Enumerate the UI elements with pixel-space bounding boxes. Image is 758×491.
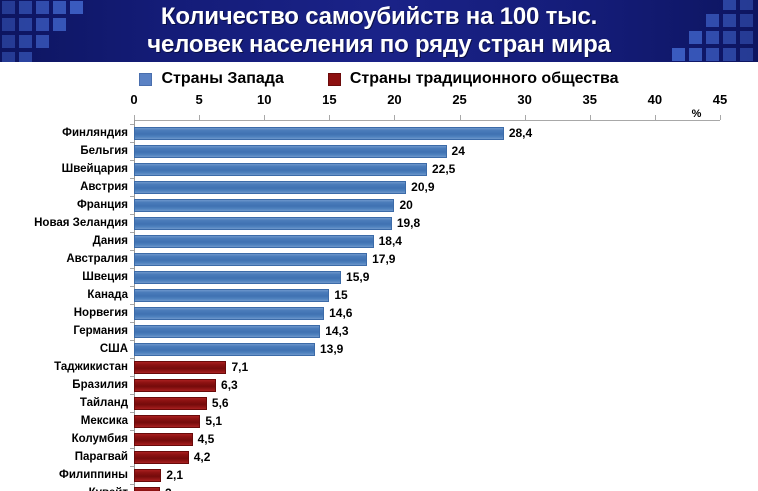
bar-traditional[interactable] <box>134 415 200 428</box>
bar-value-label: 2 <box>165 484 172 491</box>
header-square <box>36 35 49 48</box>
bar-value-label: 17,9 <box>372 250 395 268</box>
bar-chart: 051015202530354045% Финляндия28,4Бельгия… <box>0 92 758 491</box>
bar-value-label: 19,8 <box>397 214 420 232</box>
chart-row[interactable]: Бельгия24 <box>0 142 758 160</box>
bar-west[interactable] <box>134 163 427 176</box>
chart-row[interactable]: США13,9 <box>0 340 758 358</box>
header-square <box>19 18 32 31</box>
category-label: Филиппины <box>0 466 134 484</box>
bar-value-label: 4,5 <box>198 430 215 448</box>
header-square <box>740 14 753 27</box>
header-square <box>723 48 736 61</box>
bar-west[interactable] <box>134 217 392 230</box>
chart-row[interactable]: Дания18,4 <box>0 232 758 250</box>
chart-row[interactable]: Канада15 <box>0 286 758 304</box>
bar-west[interactable] <box>134 199 394 212</box>
bar-traditional[interactable] <box>134 379 216 392</box>
bar-west[interactable] <box>134 253 367 266</box>
header-square <box>36 1 49 14</box>
category-label: Таджикистан <box>0 358 134 376</box>
x-axis-tick-40: 40 <box>648 92 662 107</box>
bar-value-label: 20 <box>399 196 412 214</box>
bar-value-label: 15 <box>334 286 347 304</box>
bar-west[interactable] <box>134 307 324 320</box>
x-axis-tick-mark <box>264 115 265 120</box>
bar-value-label: 22,5 <box>432 160 455 178</box>
bar-value-label: 6,3 <box>221 376 238 394</box>
header-square <box>19 1 32 14</box>
x-axis-tick-35: 35 <box>583 92 597 107</box>
legend-label-west: Страны Запада <box>161 70 283 88</box>
header-square <box>706 14 719 27</box>
legend-swatch-traditional-icon <box>328 73 341 86</box>
page-title: Количество самоубийств на 100 тыс. челов… <box>60 0 698 62</box>
category-label: Дания <box>0 232 134 250</box>
legend-item-traditional[interactable]: Страны традиционного общества <box>328 70 619 88</box>
category-label: Бразилия <box>0 376 134 394</box>
bar-traditional[interactable] <box>134 469 161 482</box>
x-axis-tick-0: 0 <box>130 92 137 107</box>
bar-traditional[interactable] <box>134 487 160 491</box>
header-square <box>36 18 49 31</box>
category-label: Швеция <box>0 268 134 286</box>
category-label: Норвегия <box>0 304 134 322</box>
bar-traditional[interactable] <box>134 433 193 446</box>
chart-row[interactable]: Австралия17,9 <box>0 250 758 268</box>
header-square <box>723 0 736 10</box>
x-axis-tick-labels: 051015202530354045% <box>0 92 758 114</box>
header-square <box>2 35 15 48</box>
header-square <box>740 48 753 61</box>
x-axis-tick-5: 5 <box>195 92 202 107</box>
x-axis-tick-mark <box>460 115 461 120</box>
legend-item-west[interactable]: Страны Запада <box>139 70 283 88</box>
bar-value-label: 2,1 <box>166 466 183 484</box>
bar-west[interactable] <box>134 127 504 140</box>
x-axis-tick-mark <box>525 115 526 120</box>
chart-row[interactable]: Норвегия14,6 <box>0 304 758 322</box>
bar-west[interactable] <box>134 181 406 194</box>
bar-value-label: 14,6 <box>329 304 352 322</box>
header-square <box>723 14 736 27</box>
header-square <box>19 52 32 62</box>
category-label: Мексика <box>0 412 134 430</box>
bar-value-label: 24 <box>452 142 465 160</box>
chart-row[interactable]: Франция20 <box>0 196 758 214</box>
category-label: Бельгия <box>0 142 134 160</box>
bar-value-label: 13,9 <box>320 340 343 358</box>
legend-label-traditional: Страны традиционного общества <box>350 70 619 88</box>
bar-west[interactable] <box>134 325 320 338</box>
bar-traditional[interactable] <box>134 397 207 410</box>
chart-row[interactable]: Таджикистан7,1 <box>0 358 758 376</box>
title-line-2: человек населения по ряду стран мира <box>147 31 610 59</box>
chart-row[interactable]: Бразилия6,3 <box>0 376 758 394</box>
x-axis-tick-15: 15 <box>322 92 336 107</box>
x-axis-tick-mark <box>329 115 330 120</box>
category-label: Канада <box>0 286 134 304</box>
chart-row[interactable]: Финляндия28,4 <box>0 124 758 142</box>
category-label: Швейцария <box>0 160 134 178</box>
category-label: Финляндия <box>0 124 134 142</box>
bar-value-label: 5,1 <box>205 412 222 430</box>
category-label: Кувейт <box>0 484 134 491</box>
category-label: Австралия <box>0 250 134 268</box>
bar-value-label: 7,1 <box>231 358 248 376</box>
x-axis-tick-25: 25 <box>452 92 466 107</box>
bar-value-label: 4,2 <box>194 448 211 466</box>
x-axis-tick-30: 30 <box>517 92 531 107</box>
category-label: Парагвай <box>0 448 134 466</box>
x-axis-tick-mark <box>720 115 721 120</box>
category-label: Франция <box>0 196 134 214</box>
chart-row[interactable]: Швейцария22,5 <box>0 160 758 178</box>
legend-swatch-west-icon <box>139 73 152 86</box>
category-label: Тайланд <box>0 394 134 412</box>
bar-west[interactable] <box>134 271 341 284</box>
chart-page: Количество самоубийств на 100 тыс. челов… <box>0 0 758 491</box>
bar-value-label: 5,6 <box>212 394 229 412</box>
x-axis-tick-mark <box>199 115 200 120</box>
category-label: Австрия <box>0 178 134 196</box>
chart-row[interactable]: Филиппины2,1 <box>0 466 758 484</box>
bar-traditional[interactable] <box>134 451 189 464</box>
header-square <box>723 31 736 44</box>
x-axis-tick-mark <box>590 115 591 120</box>
category-label: США <box>0 340 134 358</box>
x-axis-tick-45: 45 <box>713 92 727 107</box>
chart-row[interactable]: Колумбия4,5 <box>0 430 758 448</box>
header-square <box>19 35 32 48</box>
chart-row[interactable]: Новая Зеландия19,8 <box>0 214 758 232</box>
chart-row[interactable]: Швеция15,9 <box>0 268 758 286</box>
header-square <box>706 48 719 61</box>
header-square <box>706 31 719 44</box>
bar-west[interactable] <box>134 289 329 302</box>
bar-west[interactable] <box>134 343 315 356</box>
header-square <box>740 31 753 44</box>
bar-west[interactable] <box>134 145 447 158</box>
x-axis-tick-20: 20 <box>387 92 401 107</box>
bar-value-label: 20,9 <box>411 178 434 196</box>
x-axis-tick-10: 10 <box>257 92 271 107</box>
header-square <box>2 1 15 14</box>
title-banner: Количество самоубийств на 100 тыс. челов… <box>0 0 758 62</box>
header-square <box>740 0 753 10</box>
x-axis-tick-mark <box>655 115 656 120</box>
chart-row[interactable]: Австрия20,9 <box>0 178 758 196</box>
category-label: Колумбия <box>0 430 134 448</box>
chart-legend: Страны Запада Страны традиционного общес… <box>0 66 758 92</box>
bar-traditional[interactable] <box>134 361 226 374</box>
category-label: Германия <box>0 322 134 340</box>
chart-row[interactable]: Мексика5,1 <box>0 412 758 430</box>
title-line-1: Количество самоубийств на 100 тыс. <box>161 3 597 31</box>
plot-area: Финляндия28,4Бельгия24Швейцария22,5Австр… <box>0 118 758 491</box>
x-axis-line <box>134 120 720 121</box>
bar-value-label: 18,4 <box>379 232 402 250</box>
x-axis-tick-mark <box>394 115 395 120</box>
header-square <box>2 52 15 62</box>
bar-value-label: 28,4 <box>509 124 532 142</box>
header-square <box>2 18 15 31</box>
chart-row[interactable]: Кувейт2 <box>0 484 758 491</box>
chart-row[interactable]: Тайланд5,6 <box>0 394 758 412</box>
category-label: Новая Зеландия <box>0 214 134 232</box>
bar-west[interactable] <box>134 235 374 248</box>
bar-value-label: 15,9 <box>346 268 369 286</box>
chart-row[interactable]: Германия14,3 <box>0 322 758 340</box>
chart-row[interactable]: Парагвай4,2 <box>0 448 758 466</box>
bar-value-label: 14,3 <box>325 322 348 340</box>
